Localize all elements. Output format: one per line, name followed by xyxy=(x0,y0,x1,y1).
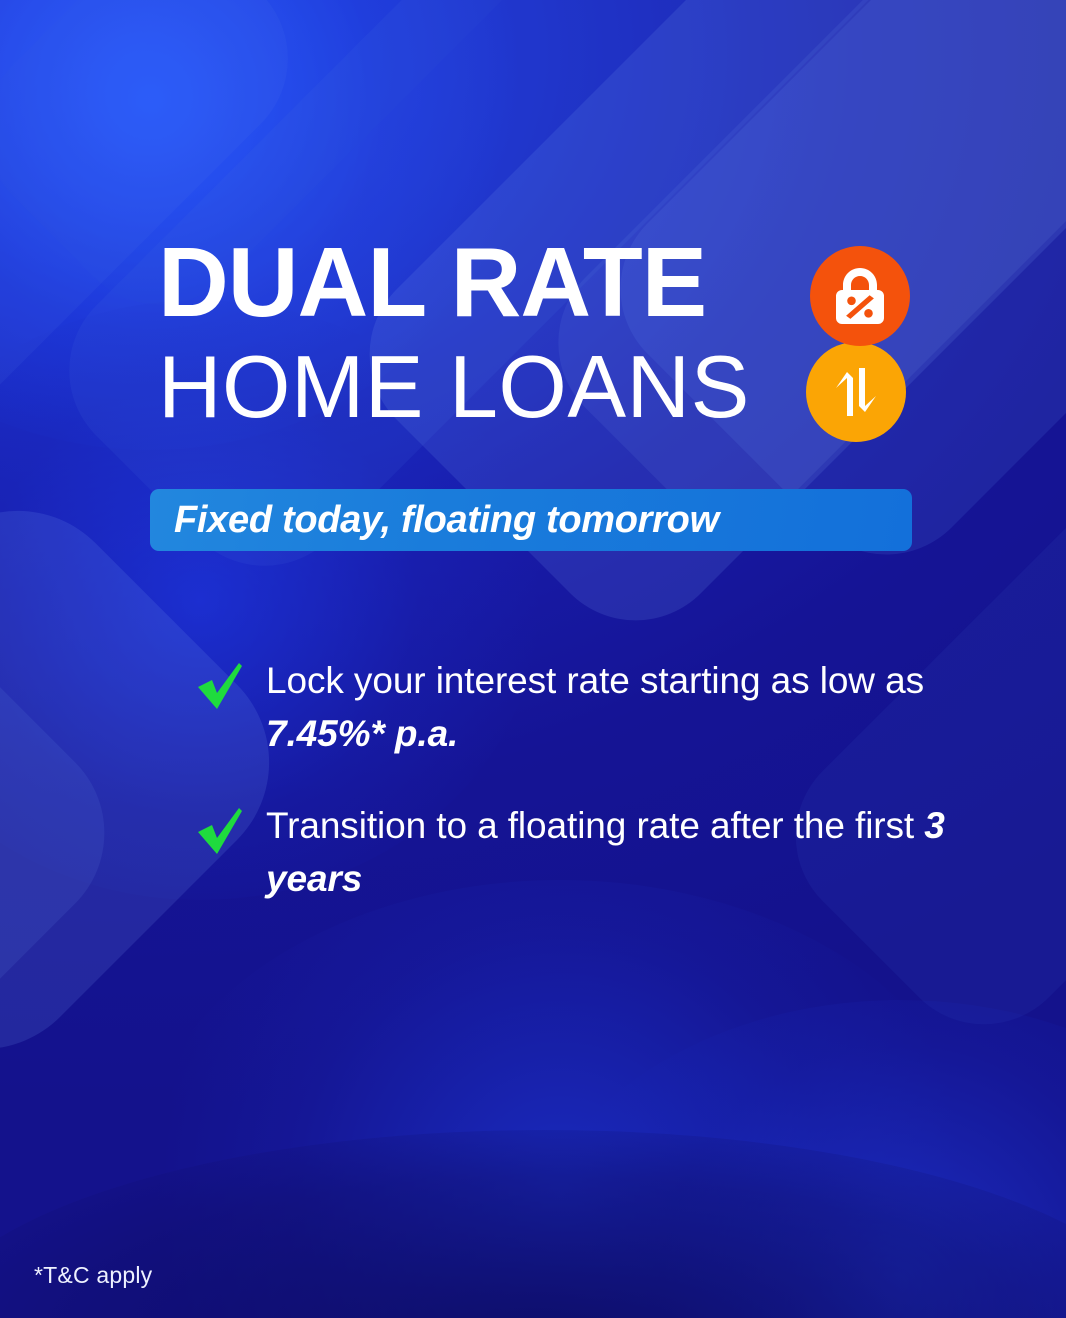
tagline-bar: Fixed today, floating tomorrow xyxy=(150,489,912,551)
list-item: Lock your interest rate starting as low … xyxy=(196,655,956,760)
terms-footnote: *T&C apply xyxy=(34,1262,152,1289)
list-item-text-emphasis: 7.45%* p.a. xyxy=(266,713,458,754)
lock-percent-icon xyxy=(810,246,910,346)
list-item-text-plain: Lock your interest rate starting as low … xyxy=(266,660,924,701)
list-item: Transition to a floating rate after the … xyxy=(196,800,956,905)
swap-arrows-icon xyxy=(806,342,906,442)
tagline-text: Fixed today, floating tomorrow xyxy=(174,499,719,542)
list-item-text: Lock your interest rate starting as low … xyxy=(266,655,956,760)
list-item-text-plain: Transition to a floating rate after the … xyxy=(266,805,924,846)
benefit-list: Lock your interest rate starting as low … xyxy=(196,655,956,905)
promo-banner: DUAL RATE HOME LOANS xyxy=(0,0,1066,1318)
list-item-text: Transition to a floating rate after the … xyxy=(266,800,956,905)
check-icon xyxy=(196,661,244,713)
icon-stack xyxy=(806,246,918,444)
check-icon xyxy=(196,806,244,858)
